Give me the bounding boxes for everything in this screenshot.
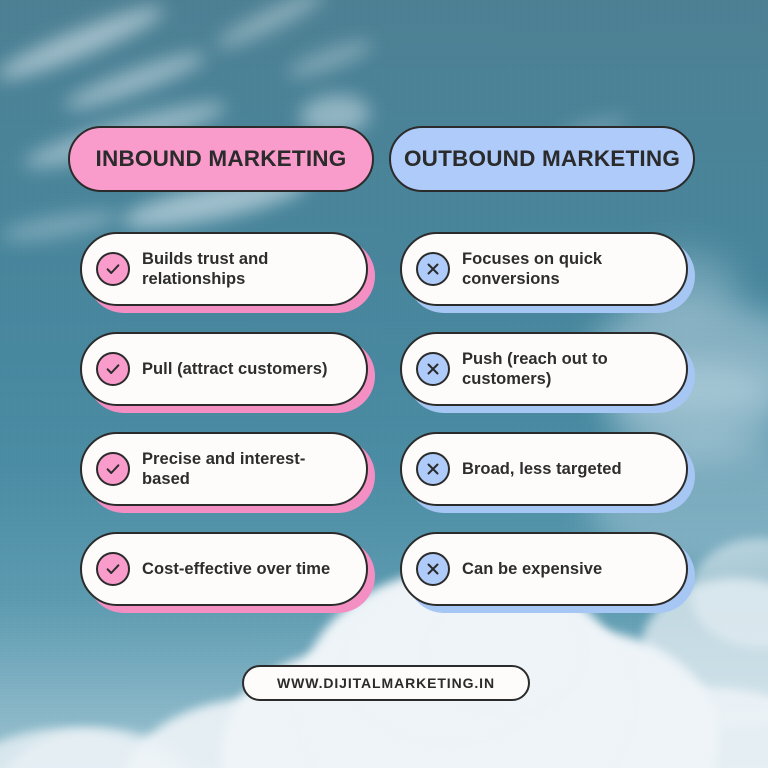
outbound-card-1-text: Focuses on quick conversions (462, 249, 670, 289)
x-icon (416, 352, 450, 386)
inbound-card-1: Builds trust and relationships (80, 232, 368, 306)
inbound-card-2: Pull (attract customers) (80, 332, 368, 406)
check-icon (96, 452, 130, 486)
outbound-card-4: Can be expensive (400, 532, 688, 606)
column-headers: INBOUND MARKETING OUTBOUND MARKETING (0, 126, 768, 190)
comparison-row: Precise and interest-based Broad, less t… (0, 432, 768, 532)
header-outbound-marketing: OUTBOUND MARKETING (389, 126, 695, 192)
inbound-card-2-text: Pull (attract customers) (142, 359, 328, 379)
outbound-card-3: Broad, less targeted (400, 432, 688, 506)
inbound-card-1-text: Builds trust and relationships (142, 249, 350, 289)
comparison-row: Cost-effective over time Can be expensiv… (0, 532, 768, 632)
outbound-card-2: Push (reach out to customers) (400, 332, 688, 406)
check-icon (96, 252, 130, 286)
comparison-row: Builds trust and relationships Focuses o… (0, 232, 768, 332)
x-icon (416, 552, 450, 586)
outbound-card-2-text: Push (reach out to customers) (462, 349, 670, 389)
comparison-row: Pull (attract customers) Push (reach out… (0, 332, 768, 432)
comparison-rows: Builds trust and relationships Focuses o… (0, 232, 768, 632)
outbound-card-1: Focuses on quick conversions (400, 232, 688, 306)
inbound-card-4: Cost-effective over time (80, 532, 368, 606)
header-outbound-label: OUTBOUND MARKETING (404, 146, 680, 172)
website-url-pill: WWW.DIJITALMARKETING.IN (242, 665, 530, 701)
header-inbound-label: INBOUND MARKETING (96, 146, 347, 172)
website-url-label: WWW.DIJITALMARKETING.IN (277, 675, 495, 691)
inbound-card-3-text: Precise and interest-based (142, 449, 350, 489)
check-icon (96, 552, 130, 586)
x-icon (416, 252, 450, 286)
outbound-card-4-text: Can be expensive (462, 559, 602, 579)
check-icon (96, 352, 130, 386)
x-icon (416, 452, 450, 486)
header-inbound-marketing: INBOUND MARKETING (68, 126, 374, 192)
inbound-card-3: Precise and interest-based (80, 432, 368, 506)
infographic-content: INBOUND MARKETING OUTBOUND MARKETING Bui… (0, 0, 768, 768)
inbound-card-4-text: Cost-effective over time (142, 559, 330, 579)
outbound-card-3-text: Broad, less targeted (462, 459, 622, 479)
